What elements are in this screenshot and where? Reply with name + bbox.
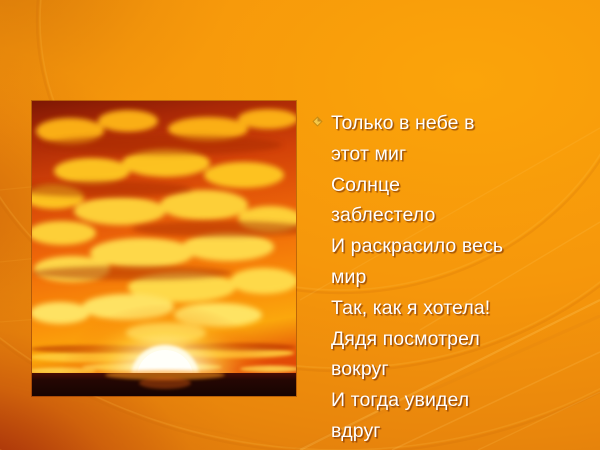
- bullet-list-item: Только в небе в этот миг Солнце заблесте…: [311, 108, 593, 447]
- presentation-slide: Только в небе в этот миг Солнце заблесте…: [0, 0, 600, 450]
- poem-text-block: Только в небе в этот миг Солнце заблесте…: [311, 108, 593, 447]
- poem-text: Только в небе в этот миг Солнце заблесте…: [331, 108, 593, 447]
- diamond-bullet-icon: [312, 116, 323, 127]
- sunset-photo: [32, 101, 296, 396]
